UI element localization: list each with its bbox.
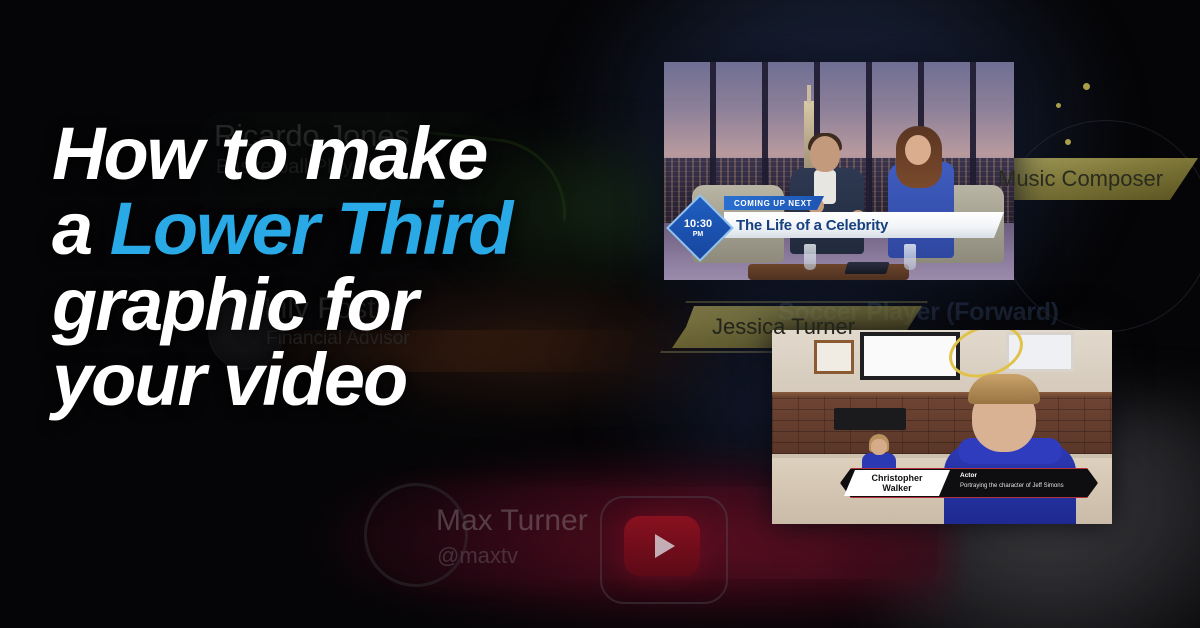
video-thumbnail-news[interactable]: COMING UP NEXT The Life of a Celebrity 1…	[664, 62, 1014, 280]
page-title: How to make a Lower Third graphic for yo…	[52, 116, 612, 418]
lowerthird-name-line1: Christopher	[871, 473, 922, 483]
time-meridiem: PM	[693, 230, 704, 241]
headline-accent: Lower Third	[110, 187, 511, 270]
play-icon	[655, 534, 675, 558]
headline-line-3: graphic for	[52, 267, 612, 342]
lowerthird-bar: The Life of a Celebrity	[724, 212, 1004, 238]
headline-prefix: a	[52, 187, 110, 270]
interview-subject	[944, 374, 1076, 524]
lowerthird-eyebrow: COMING UP NEXT	[724, 196, 824, 210]
headline-line-2: a Lower Third	[52, 191, 612, 266]
lowerthird-name-plate: Christopher Walker	[844, 470, 950, 496]
decorative-dot	[1083, 83, 1090, 90]
avatar-face	[871, 439, 887, 455]
headline-line-1: How to make	[52, 116, 612, 191]
decorative-dot	[1056, 103, 1061, 108]
face	[905, 135, 931, 165]
ghost-avatar-ring	[364, 483, 468, 587]
picture-frame	[814, 340, 854, 374]
time-value: 10:30	[684, 219, 712, 230]
decorative-dot	[1065, 139, 1071, 145]
picture-frame	[860, 332, 960, 380]
television	[834, 408, 906, 430]
headline-line-4: your video	[52, 342, 612, 417]
tablet	[844, 262, 889, 274]
ghost-name: Max Turner	[436, 504, 588, 538]
chevron-label: Music Composer	[988, 166, 1163, 192]
lowerthird-description: Portraying the character of Jeff Simons	[960, 483, 1064, 489]
hair	[968, 374, 1040, 404]
lowerthird-christopher-walker: Christopher Walker Actor Portraying the …	[840, 468, 1098, 498]
chevron-label: Jessica Turner	[672, 314, 855, 340]
avatar-cutout	[860, 434, 898, 472]
play-button[interactable]	[624, 516, 700, 576]
ghost-handle: @maxtv	[437, 543, 518, 569]
lowerthird-title: The Life of a Celebrity	[724, 217, 888, 234]
head	[810, 136, 840, 172]
lowerthird-role: Actor	[960, 472, 977, 479]
lowerthird-name-line2: Walker	[882, 483, 911, 493]
ghost-lowerthird-composer: Music Composer	[988, 158, 1198, 200]
lowerthird-coming-up-next: COMING UP NEXT The Life of a Celebrity 1…	[670, 208, 1004, 248]
video-thumbnail-interview[interactable]: Christopher Walker Actor Portraying the …	[772, 330, 1112, 524]
time-label-group: 10:30 PM	[678, 212, 718, 248]
promo-banner: Ricardo Jones Basketball Player Lily Fos…	[0, 0, 1200, 628]
